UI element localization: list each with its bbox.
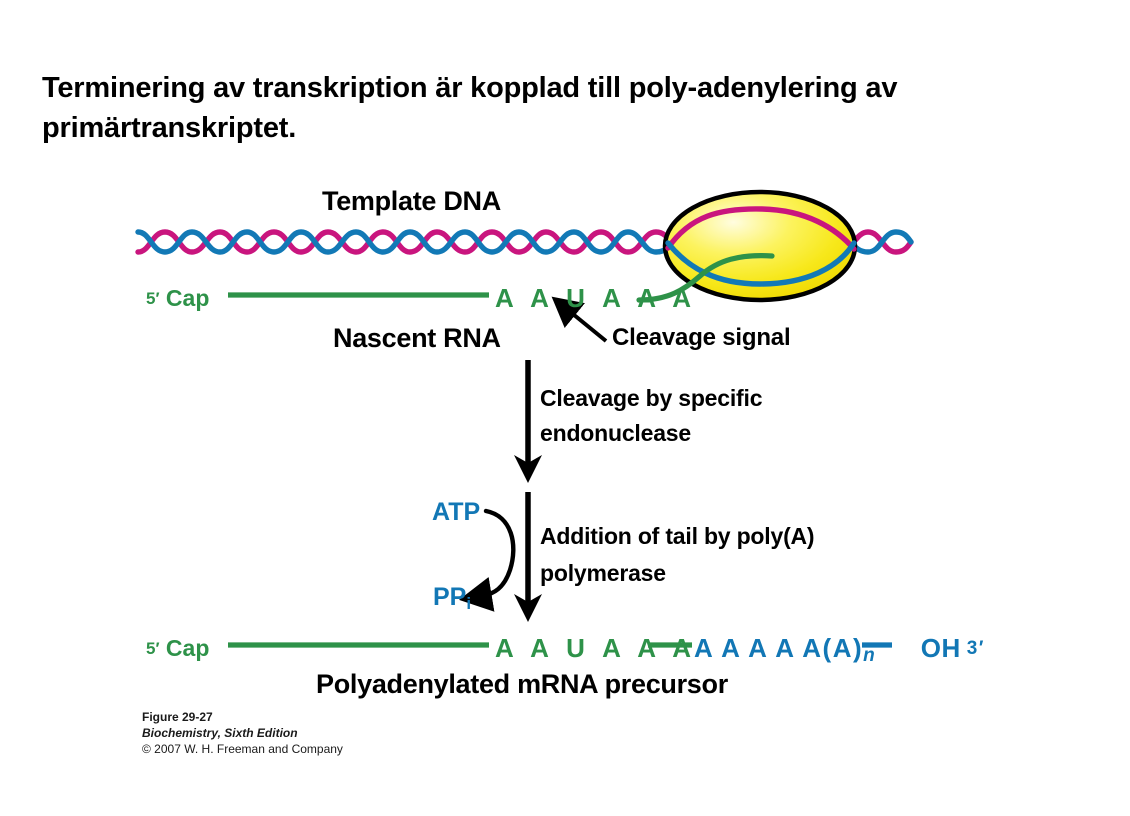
ppi-subscript: i	[466, 594, 471, 613]
nascent-rna-label: Nascent RNA	[333, 323, 501, 354]
dna-helix-right	[851, 232, 911, 252]
credit-figure-number: Figure 29-27	[142, 710, 343, 726]
atp-to-ppi-curved-arrow	[482, 511, 513, 596]
step-cleavage-endonuclease-label: Cleavage by specific endonuclease	[540, 381, 830, 450]
aauaaa-sequence-top: A A U A A A	[495, 283, 697, 314]
template-dna-label: Template DNA	[322, 186, 501, 217]
slide-canvas: Terminering av transkription är kopplad …	[0, 0, 1130, 816]
cleavage-signal-label: Cleavage signal	[612, 324, 790, 352]
cap-text-top: Cap	[166, 285, 209, 311]
polya-tail-label: A A A A A(A)nOH3′	[694, 633, 985, 667]
atp-label: ATP	[432, 498, 480, 527]
dna-helix-left	[138, 232, 673, 252]
aauaaa-sequence-bottom: A A U A A A	[495, 633, 697, 664]
figure-credit: Figure 29-27 Biochemistry, Sixth Edition…	[142, 710, 343, 757]
polya-tail-sequence: A A A A A(A)	[694, 633, 863, 663]
five-prime-symbol-top: 5′	[146, 289, 160, 308]
five-prime-symbol-bottom: 5′	[146, 639, 160, 658]
cap-text-bottom: Cap	[166, 635, 209, 661]
polyadenylated-mrna-label: Polyadenylated mRNA precursor	[316, 669, 728, 700]
five-prime-cap-top: 5′ Cap	[146, 285, 209, 312]
credit-book-title: Biochemistry, Sixth Edition	[142, 726, 343, 742]
ppi-label: PPi	[433, 583, 471, 614]
polya-three-prime: 3′	[961, 638, 985, 659]
step-polya-polymerase-label: Addition of tail by poly(A) polymerase	[540, 518, 830, 593]
cleavage-signal-arrow	[568, 310, 606, 341]
polya-tail-subscript-n: n	[863, 645, 875, 666]
polya-oh-text: OH	[875, 633, 961, 663]
credit-copyright: © 2007 W. H. Freeman and Company	[142, 742, 343, 758]
ppi-text: PP	[433, 583, 466, 611]
five-prime-cap-bottom: 5′ Cap	[146, 635, 209, 662]
